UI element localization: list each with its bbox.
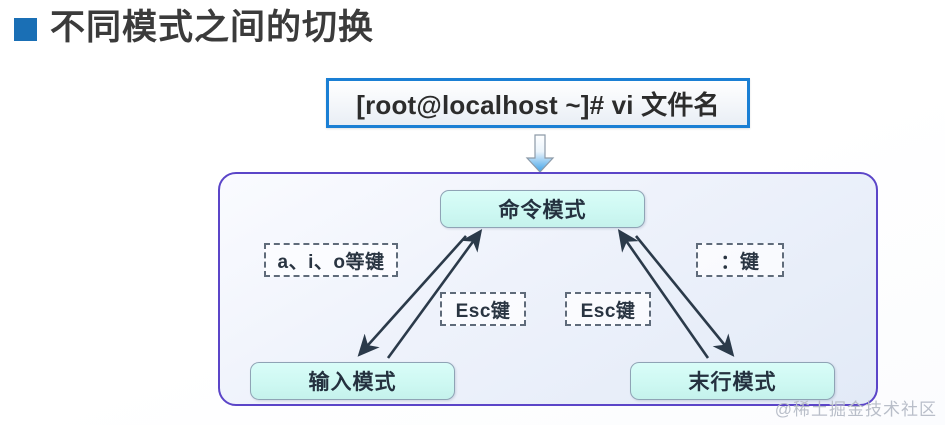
- mode-label-command: 命令模式: [499, 194, 587, 224]
- mode-box-command: 命令模式: [440, 190, 645, 228]
- page-title: 不同模式之间的切换: [14, 10, 374, 45]
- command-prompt-text: [root@localhost ~]# vi 文件名: [356, 85, 720, 122]
- command-prompt-box: [root@localhost ~]# vi 文件名: [326, 78, 750, 128]
- mode-box-input: 输入模式: [250, 362, 455, 400]
- mode-label-lastline: 末行模式: [689, 366, 777, 396]
- key-label-insert: a、i、o等键: [264, 243, 398, 277]
- page-title-text: 不同模式之间的切换: [50, 10, 374, 45]
- mode-label-input: 输入模式: [309, 366, 397, 396]
- key-label-colon-text: ：键: [720, 247, 759, 274]
- arrow-down-icon: [525, 134, 555, 174]
- key-label-insert-text: a、i、o等键: [278, 247, 385, 274]
- watermark: @稀土掘金技术社区: [775, 395, 937, 420]
- key-label-esc-right: Esc键: [565, 292, 651, 326]
- key-label-esc-left-text: Esc键: [456, 296, 511, 323]
- bullet-square-icon: [14, 18, 37, 41]
- key-label-esc-left: Esc键: [440, 292, 526, 326]
- key-label-esc-right-text: Esc键: [581, 296, 636, 323]
- key-label-colon: ：键: [696, 243, 784, 277]
